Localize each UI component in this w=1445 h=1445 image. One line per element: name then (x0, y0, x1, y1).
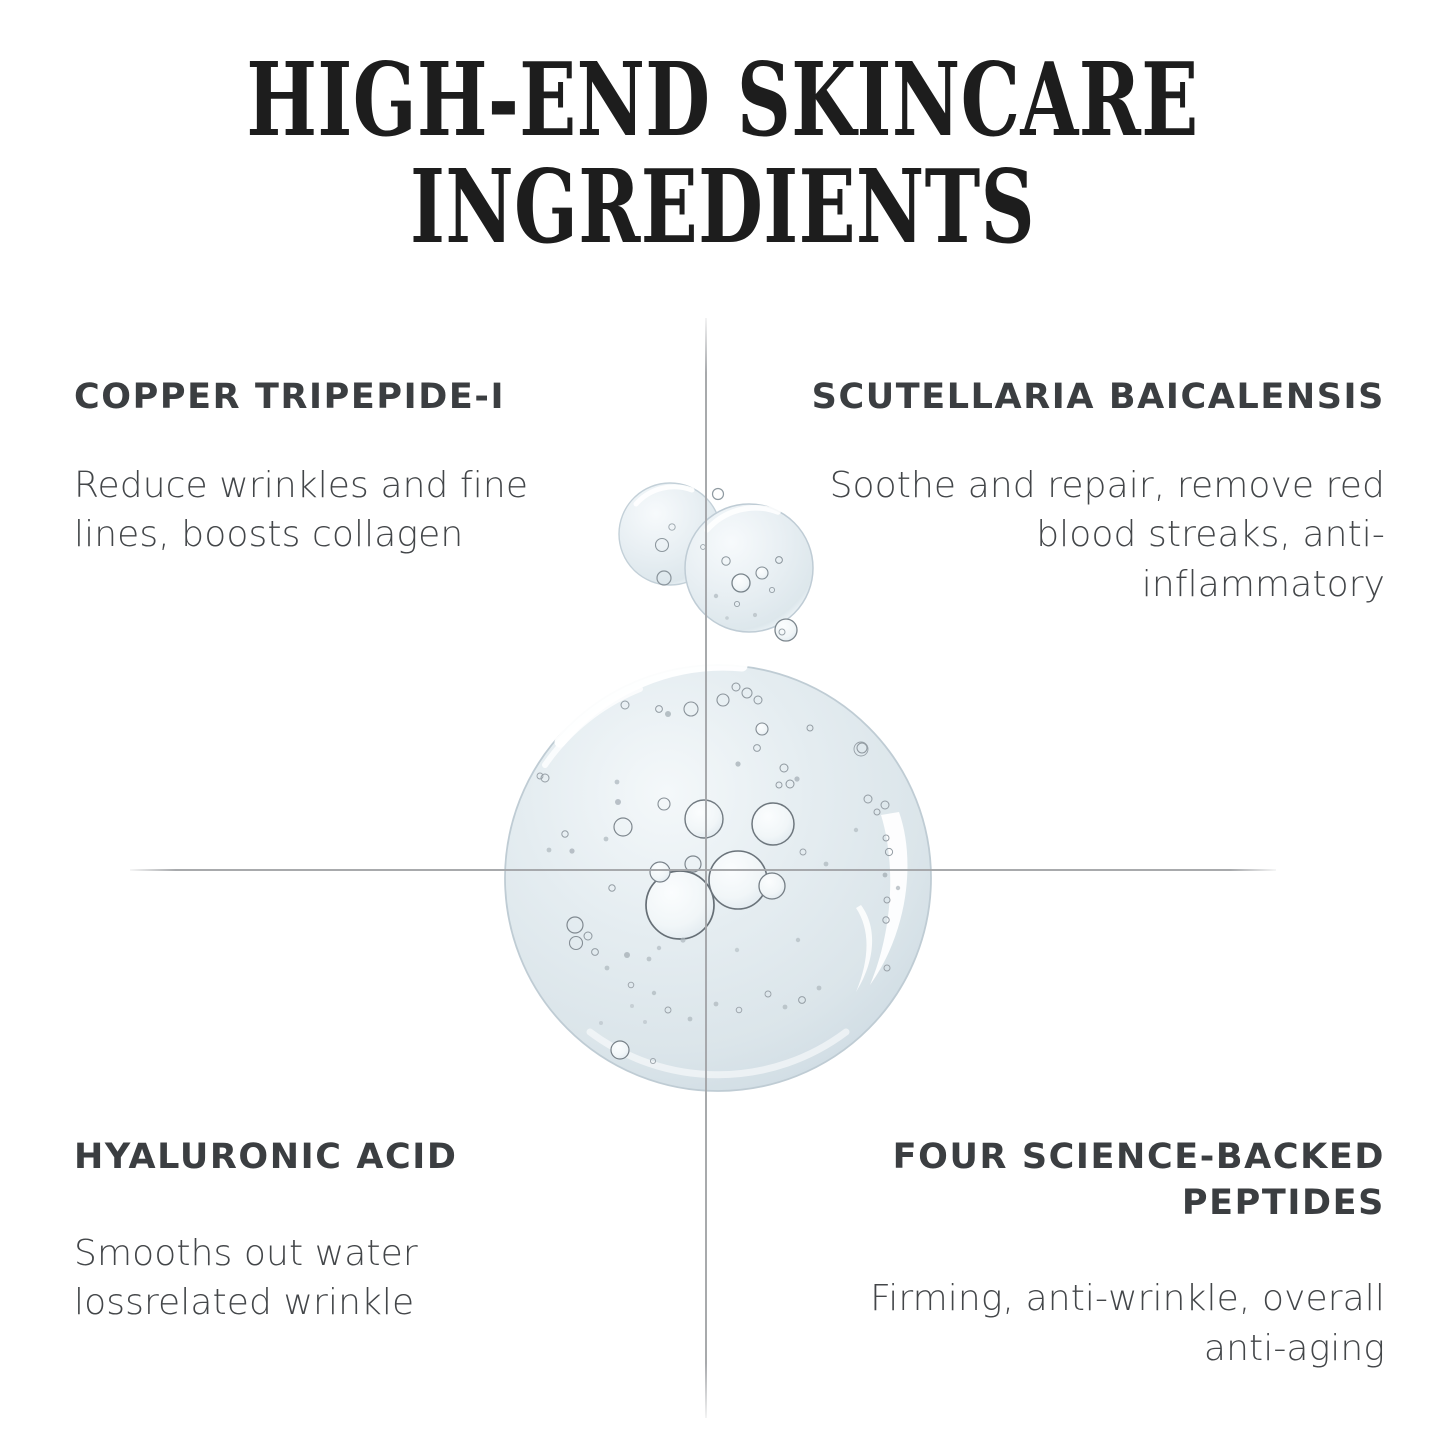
ingredient-block-copper-tripepide: COPPER TRIPEPIDE-I Reduce wrinkles and f… (74, 375, 544, 560)
ingredient-heading-scutellaria-baicalensis: SCUTELLARIA BAICALENSIS (800, 375, 1385, 421)
ingredient-heading-copper-tripepide: COPPER TRIPEPIDE-I (74, 375, 544, 421)
page-title-line-1: HIGH-END SKINCARE (188, 46, 1257, 153)
ingredient-heading-four-peptides: FOUR SCIENCE-BACKED PEPTIDES (790, 1135, 1385, 1226)
page-title: HIGH-END SKINCARE INGREDIENTS (0, 46, 1445, 260)
stray-bubble (713, 489, 724, 500)
poster-canvas: HIGH-END SKINCARE INGREDIENTS (0, 0, 1445, 1445)
ingredient-block-four-peptides: FOUR SCIENCE-BACKED PEPTIDES Firming, an… (790, 1135, 1385, 1373)
ingredient-description-scutellaria-baicalensis: Soothe and repair, remove red blood stre… (800, 461, 1385, 610)
ingredient-block-scutellaria-baicalensis: SCUTELLARIA BAICALENSIS Soothe and repai… (800, 375, 1385, 610)
divider-vertical (705, 318, 707, 1418)
page-title-line-2: INGREDIENTS (188, 153, 1257, 260)
ingredient-heading-hyaluronic-acid: HYALURONIC ACID (74, 1135, 544, 1181)
ingredient-block-hyaluronic-acid: HYALURONIC ACID Smooths out water lossre… (74, 1135, 544, 1328)
stray-bubble (779, 629, 785, 635)
water-droplet-large (505, 665, 931, 1091)
ingredient-description-hyaluronic-acid: Smooths out water lossrelated wrinkle (74, 1229, 544, 1328)
ingredient-description-four-peptides: Firming, anti-wrinkle, overall anti-agin… (790, 1274, 1385, 1373)
ingredient-description-copper-tripepide: Reduce wrinkles and fine lines, boosts c… (74, 461, 544, 560)
divider-horizontal (130, 869, 1276, 871)
stray-bubble (657, 571, 671, 585)
